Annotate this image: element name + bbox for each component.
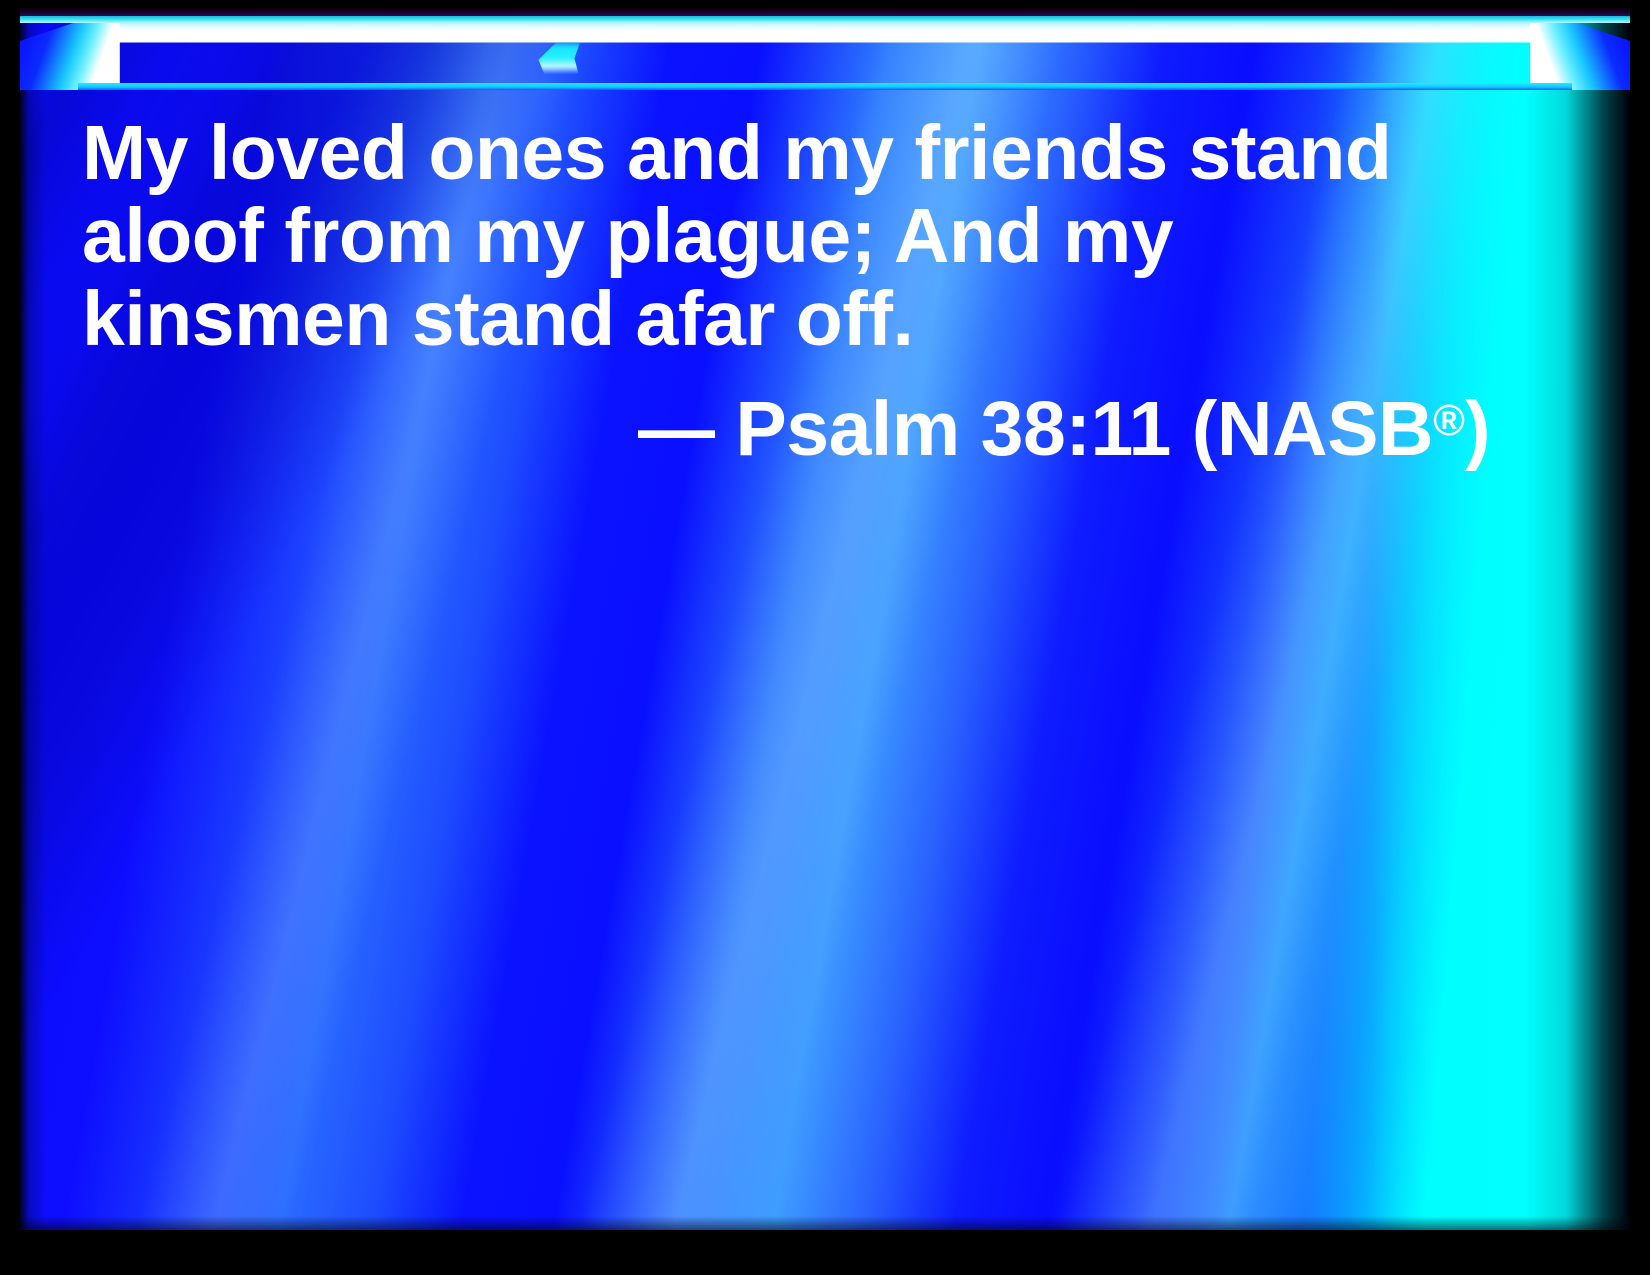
attribution-reference: — Psalm 38:11 (NASB xyxy=(638,386,1433,472)
verse-slide: My loved ones and my friends stand aloof… xyxy=(0,0,1650,1275)
top-decorative-band xyxy=(20,8,1630,90)
attribution-close-paren: ) xyxy=(1465,386,1490,472)
band-cyan-notch xyxy=(538,40,580,74)
band-top-dark-edge xyxy=(20,8,1630,16)
band-cyan-top-line xyxy=(20,15,1630,23)
verse-attribution: — Psalm 38:11 (NASB®) xyxy=(82,375,1490,475)
verse-text: My loved ones and my friends stand aloof… xyxy=(82,112,1502,361)
registered-trademark-icon: ® xyxy=(1433,397,1465,445)
band-bottom-cyan-line xyxy=(78,83,1572,90)
